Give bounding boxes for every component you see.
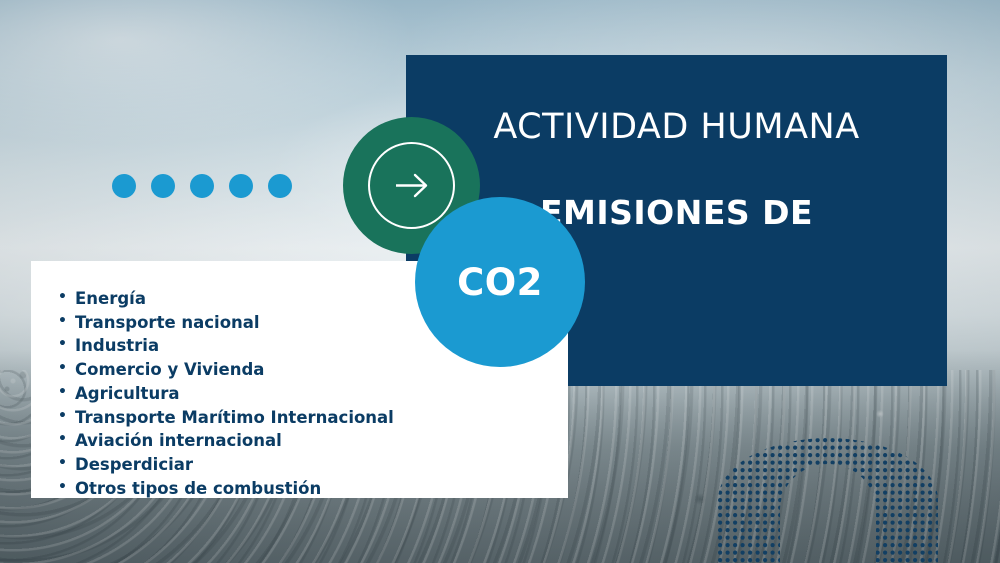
decorative-dot bbox=[268, 174, 292, 198]
slide-canvas: ACTIVIDAD HUMANA EMISIONES DE CO2 Energí… bbox=[0, 0, 1000, 563]
co2-badge: CO2 bbox=[415, 197, 585, 367]
decorative-dot bbox=[190, 174, 214, 198]
list-item: Desperdiciar bbox=[75, 453, 568, 477]
arrow-right-icon bbox=[368, 142, 455, 229]
decorative-dot bbox=[112, 174, 136, 198]
panel-title: ACTIVIDAD HUMANA bbox=[406, 107, 947, 147]
decorative-dot bbox=[229, 174, 253, 198]
halftone-arch-decoration bbox=[718, 438, 938, 563]
list-item: Transporte Marítimo Internacional bbox=[75, 406, 568, 430]
list-item: Agricultura bbox=[75, 382, 568, 406]
list-item: Aviación internacional bbox=[75, 429, 568, 453]
co2-badge-label: CO2 bbox=[457, 261, 543, 304]
dot-row-decoration bbox=[112, 174, 292, 198]
decorative-dot bbox=[151, 174, 175, 198]
list-item: Otros tipos de combustión bbox=[75, 477, 568, 501]
